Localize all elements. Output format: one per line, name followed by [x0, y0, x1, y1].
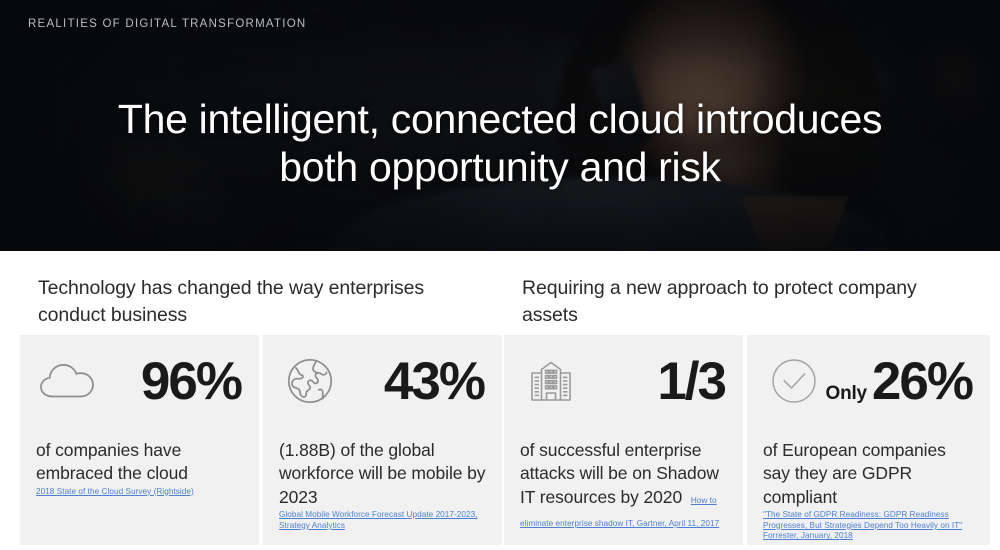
stat-value-group: Only 26%: [825, 355, 974, 408]
stat-card-body: of successful enterprise attacks will be…: [520, 439, 727, 532]
stat-description: of companies have embraced the cloud: [36, 439, 243, 486]
stat-value: 96%: [141, 355, 241, 408]
stat-value-group: 1/3: [582, 355, 727, 408]
stat-description-text: of European companies say they are GDPR …: [763, 440, 946, 507]
stat-card-header: Only 26%: [763, 349, 974, 413]
stat-value-group: 96%: [98, 355, 243, 408]
globe-icon: [279, 356, 341, 406]
hero-title: The intelligent, connected cloud introdu…: [0, 95, 1000, 192]
cloud-icon: [36, 360, 98, 402]
hero-title-line-2: both opportunity and risk: [60, 143, 940, 191]
stat-description-text: of successful enterprise attacks will be…: [520, 440, 719, 507]
content-area: Technology has changed the way enterpris…: [0, 251, 1000, 550]
stat-description-text: (1.88B) of the global workforce will be …: [279, 440, 485, 507]
hero-title-line-1: The intelligent, connected cloud introdu…: [60, 95, 940, 143]
source-link[interactable]: 2018 State of the Cloud Survey (Rightsid…: [36, 487, 243, 498]
stat-card-body: of European companies say they are GDPR …: [763, 439, 974, 542]
stat-card-header: 1/3: [520, 349, 727, 413]
stat-description-text: of companies have embraced the cloud: [36, 440, 188, 483]
stat-description: of European companies say they are GDPR …: [763, 439, 974, 509]
source-link[interactable]: Global Mobile Workforce Forecast Update …: [279, 510, 486, 532]
stat-value: 26%: [872, 355, 972, 408]
stat-value: 43%: [384, 355, 484, 408]
section-heading-right: Requiring a new approach to protect comp…: [522, 275, 952, 329]
stat-card-body: of companies have embraced the cloud 201…: [36, 439, 243, 497]
hero-eyebrow-label: REALITIES OF DIGITAL TRANSFORMATION: [28, 18, 306, 30]
stat-card-header: 96%: [36, 349, 243, 413]
section-heading-left: Technology has changed the way enterpris…: [38, 275, 468, 329]
slide-root: REALITIES OF DIGITAL TRANSFORMATION The …: [0, 0, 1000, 550]
stat-card-header: 43%: [279, 349, 486, 413]
stat-description: of successful enterprise attacks will be…: [520, 439, 727, 532]
hero-banner: REALITIES OF DIGITAL TRANSFORMATION The …: [0, 0, 1000, 251]
stat-value-group: 43%: [341, 355, 486, 408]
stat-card[interactable]: 96% of companies have embraced the cloud…: [20, 335, 259, 545]
stat-card-row: 96% of companies have embraced the cloud…: [20, 335, 982, 545]
stat-card-body: (1.88B) of the global workforce will be …: [279, 439, 486, 531]
stat-prefix: Only: [825, 383, 866, 405]
stat-value: 1/3: [657, 355, 725, 408]
stat-description: (1.88B) of the global workforce will be …: [279, 439, 486, 509]
check-circle-icon: [763, 357, 825, 405]
office-building-icon: [520, 357, 582, 405]
stat-card[interactable]: Only 26% of European companies say they …: [747, 335, 990, 545]
source-link[interactable]: "The State of GDPR Readiness: GDPR Readi…: [763, 510, 974, 542]
stat-card[interactable]: 1/3 of successful enterprise attacks wil…: [504, 335, 743, 545]
stat-card[interactable]: 43% (1.88B) of the global workforce will…: [263, 335, 502, 545]
